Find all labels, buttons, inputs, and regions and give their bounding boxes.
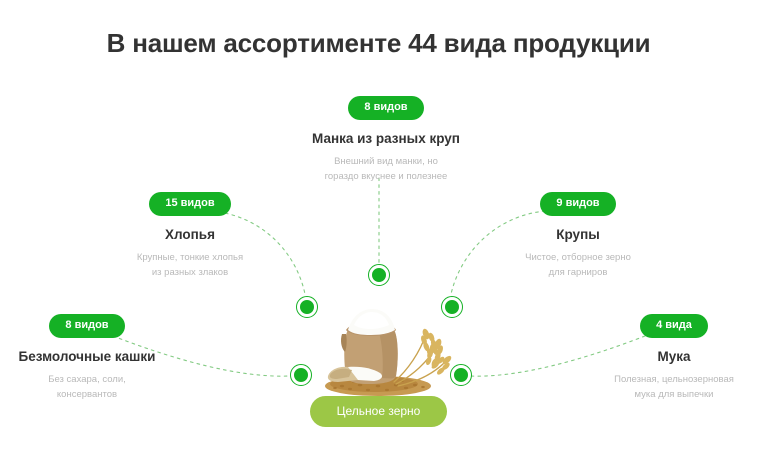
hub-dot-kashki[interactable] bbox=[291, 365, 311, 385]
node-title-krupy: Крупы bbox=[496, 227, 660, 242]
node-kashki[interactable]: 8 видов Безмолочные кашки Без сахара, со… bbox=[2, 314, 172, 402]
node-description-muka: Полезная, цельнозерновая мука для выпечк… bbox=[592, 373, 756, 402]
node-description-krupy-line1: Чистое, отборное зерно bbox=[496, 251, 660, 266]
node-description-hlopya: Крупные, тонкие хлопья из разных злаков bbox=[108, 251, 272, 280]
node-description-kashki: Без сахара, соли, консервантов bbox=[2, 373, 172, 402]
badge-count-muka[interactable]: 4 вида bbox=[640, 314, 708, 338]
node-manka[interactable]: 8 видов Манка из разных круп Внешний вид… bbox=[286, 96, 486, 184]
badge-count-hlopya[interactable]: 15 видов bbox=[149, 192, 230, 216]
node-title-muka: Мука bbox=[592, 349, 756, 364]
node-description-krupy-line2: для гарниров bbox=[496, 266, 660, 281]
node-krupy[interactable]: 9 видов Крупы Чистое, отборное зерно для… bbox=[496, 192, 660, 280]
node-hlopya[interactable]: 15 видов Хлопья Крупные, тонкие хлопья и… bbox=[108, 192, 272, 280]
node-description-hlopya-line2: из разных злаков bbox=[108, 266, 272, 281]
badge-count-krupy[interactable]: 9 видов bbox=[540, 192, 615, 216]
node-description-kashki-line1: Без сахара, соли, bbox=[2, 373, 172, 388]
flour-sack-wheat-illustration bbox=[316, 300, 456, 396]
hub-dot-hlopya[interactable] bbox=[297, 297, 317, 317]
badge-count-kashki[interactable]: 8 видов bbox=[49, 314, 124, 338]
node-description-kashki-line2: консервантов bbox=[2, 388, 172, 403]
node-description-krupy: Чистое, отборное зерно для гарниров bbox=[496, 251, 660, 280]
badge-count-manka[interactable]: 8 видов bbox=[348, 96, 423, 120]
node-title-manka: Манка из разных круп bbox=[286, 131, 486, 146]
node-description-manka-line2: гораздо вкуснее и полезнее bbox=[286, 170, 486, 185]
node-description-manka: Внешний вид манки, но гораздо вкуснее и … bbox=[286, 155, 486, 184]
node-description-manka-line1: Внешний вид манки, но bbox=[286, 155, 486, 170]
center-pill-whole-grain[interactable]: Цельное зерно bbox=[310, 396, 447, 427]
product-assortment-infographic: В нашем ассортименте 44 вида продукции 8… bbox=[0, 0, 757, 467]
node-description-muka-line1: Полезная, цельнозерновая bbox=[592, 373, 756, 388]
hub-dot-manka[interactable] bbox=[369, 265, 389, 285]
page-title: В нашем ассортименте 44 вида продукции bbox=[0, 28, 757, 59]
node-description-hlopya-line1: Крупные, тонкие хлопья bbox=[108, 251, 272, 266]
node-description-muka-line2: мука для выпечки bbox=[592, 388, 756, 403]
node-title-hlopya: Хлопья bbox=[108, 227, 272, 242]
node-muka[interactable]: 4 вида Мука Полезная, цельнозерновая мук… bbox=[592, 314, 756, 402]
node-title-kashki: Безмолочные кашки bbox=[2, 349, 172, 364]
